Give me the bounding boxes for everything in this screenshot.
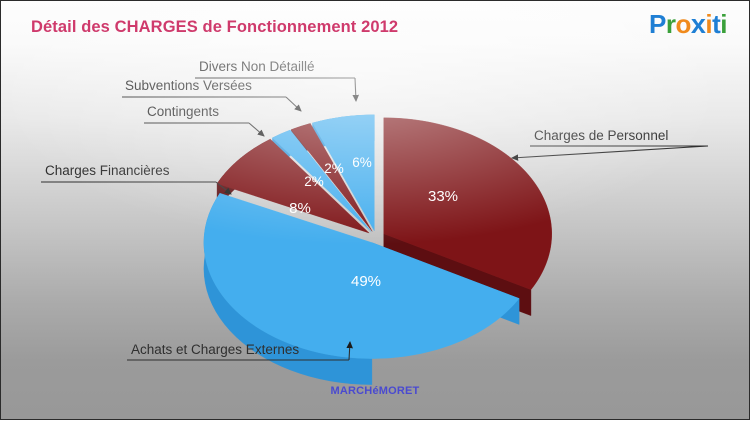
callout-leader-3 xyxy=(249,123,264,136)
callout-0: Charges de Personnel xyxy=(512,128,708,158)
proxiti-logo[interactable]: Proxiti xyxy=(649,11,727,38)
logo-letter-6: i xyxy=(720,11,727,37)
callout-label-3: Contingents xyxy=(147,104,219,119)
chart-canvas: 33%49%8%2%2%6% Charges de PersonnelAchat… xyxy=(0,0,750,420)
callout-3: Contingents xyxy=(144,104,264,136)
logo-letter-4: i xyxy=(705,11,712,37)
callout-label-0: Charges de Personnel xyxy=(534,128,668,143)
logo-letter-0: P xyxy=(649,11,666,37)
pie-value-label-2: 8% xyxy=(289,200,311,217)
pie-value-label-0: 33% xyxy=(428,188,458,205)
pie-value-label-5: 6% xyxy=(352,155,372,170)
logo-letter-1: r xyxy=(666,11,676,37)
callout-label-4: Subventions Versées xyxy=(125,78,252,93)
callout-leader-0 xyxy=(512,146,708,158)
pie-value-label-4: 2% xyxy=(324,161,344,176)
callout-2: Charges Financières xyxy=(41,163,231,194)
pie-value-label-1: 49% xyxy=(351,273,381,290)
pie-value-label-3: 2% xyxy=(304,174,324,189)
logo-letter-5: t xyxy=(712,11,720,37)
callout-leader-5 xyxy=(355,78,356,101)
callout-label-1: Achats et Charges Externes xyxy=(131,342,299,357)
pie-chart: 33%49%8%2%2%6% Charges de PersonnelAchat… xyxy=(1,1,750,421)
footer-caption: MARCHéMORET xyxy=(1,385,749,397)
callout-leader-4 xyxy=(286,97,301,111)
page-title: Détail des CHARGES de Fonctionnement 201… xyxy=(31,18,398,37)
logo-letter-3: x xyxy=(691,11,706,38)
callout-label-5: Divers Non Détaillé xyxy=(199,59,315,74)
logo-letter-2: o xyxy=(675,11,690,37)
callout-label-2: Charges Financières xyxy=(45,163,170,178)
